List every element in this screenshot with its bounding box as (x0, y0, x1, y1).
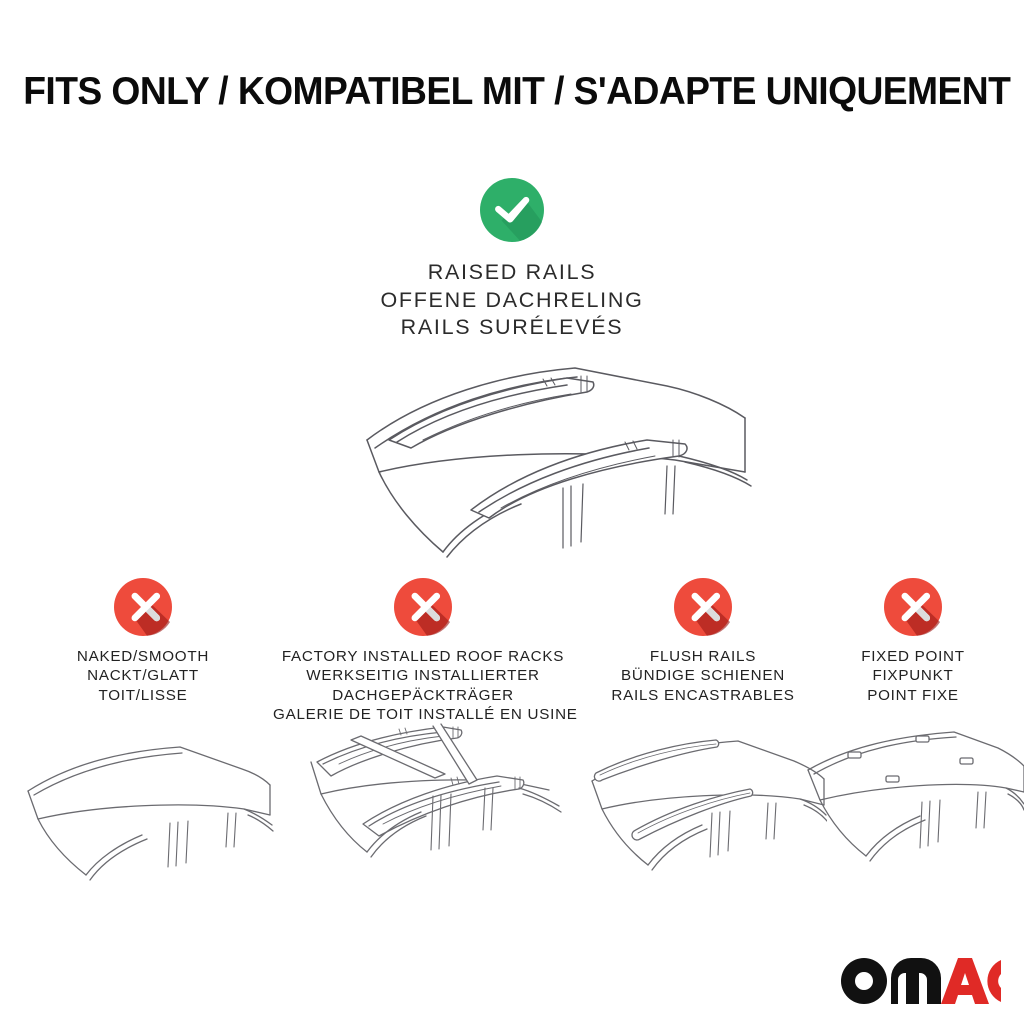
rejected-item-fixed-point: FIXED POINT FIXPUNKT POINT FIXE (828, 578, 998, 705)
raised-rails-illustration (275, 352, 755, 567)
rejected-label-de: FIXPUNKT (828, 666, 998, 685)
x-circle-icon (114, 578, 172, 636)
rejected-label-en: FLUSH RAILS (593, 647, 813, 666)
fixed-points-illustration (800, 730, 1024, 915)
check-circle-icon (480, 178, 544, 242)
x-circle-icon (674, 578, 732, 636)
x-circle-icon (394, 578, 452, 636)
rejected-item-factory-installed-roof-racks: FACTORY INSTALLED ROOF RACKS WERKSEITIG … (273, 578, 573, 725)
rejected-label-de: BÜNDIGE SCHIENEN (593, 666, 813, 685)
logo-letter-a (941, 958, 989, 1004)
bare-roof-illustration (2, 735, 274, 915)
x-circle-icon (884, 578, 942, 636)
flush-rails-illustration (572, 733, 827, 915)
logo-letter-o (841, 958, 887, 1004)
rejected-label-group: FLUSH RAILS BÜNDIGE SCHIENEN RAILS ENCAS… (593, 647, 813, 705)
rejected-label-fr: POINT FIXE (828, 686, 998, 705)
rejected-label-group: NAKED/SMOOTH NACKT/GLATT TOIT/LISSE (43, 647, 243, 705)
rejected-item-naked-smooth: NAKED/SMOOTH NACKT/GLATT TOIT/LISSE (43, 578, 243, 705)
rejected-label-de: NACKT/GLATT (43, 666, 243, 685)
page-title: FITS ONLY / KOMPATIBEL MIT / S'ADAPTE UN… (0, 72, 1024, 111)
rejected-label-en: FACTORY INSTALLED ROOF RACKS (273, 647, 573, 666)
omac-logo (841, 958, 1001, 1004)
approved-label-en: RAISED RAILS (0, 259, 1024, 287)
rejected-label-fr: TOIT/LISSE (43, 686, 243, 705)
page-title-text: FITS ONLY / KOMPATIBEL MIT / S'ADAPTE UN… (23, 72, 1010, 111)
rejected-label-group: FACTORY INSTALLED ROOF RACKS WERKSEITIG … (273, 647, 573, 725)
roof-racks-illustration (283, 722, 565, 915)
rejected-label-de-1: WERKSEITIG INSTALLIERTER (273, 666, 573, 685)
rejected-label-group: FIXED POINT FIXPUNKT POINT FIXE (828, 647, 998, 705)
approved-label-fr: RAILS SURÉLEVÉS (0, 314, 1024, 342)
rejected-label-fr: RAILS ENCASTRABLES (593, 686, 813, 705)
rejected-label-en: FIXED POINT (828, 647, 998, 666)
rejected-label-en: NAKED/SMOOTH (43, 647, 243, 666)
approved-label-group: RAISED RAILS OFFENE DACHRELING RAILS SUR… (0, 259, 1024, 342)
logo-letter-c (987, 960, 1001, 1002)
approved-section: RAISED RAILS OFFENE DACHRELING RAILS SUR… (0, 178, 1024, 342)
approved-label-de: OFFENE DACHRELING (0, 287, 1024, 315)
logo-letter-m (891, 958, 941, 1004)
rejected-label-de-2: DACHGEPÄCKTRÄGER (273, 686, 573, 705)
rejected-item-flush-rails: FLUSH RAILS BÜNDIGE SCHIENEN RAILS ENCAS… (593, 578, 813, 705)
